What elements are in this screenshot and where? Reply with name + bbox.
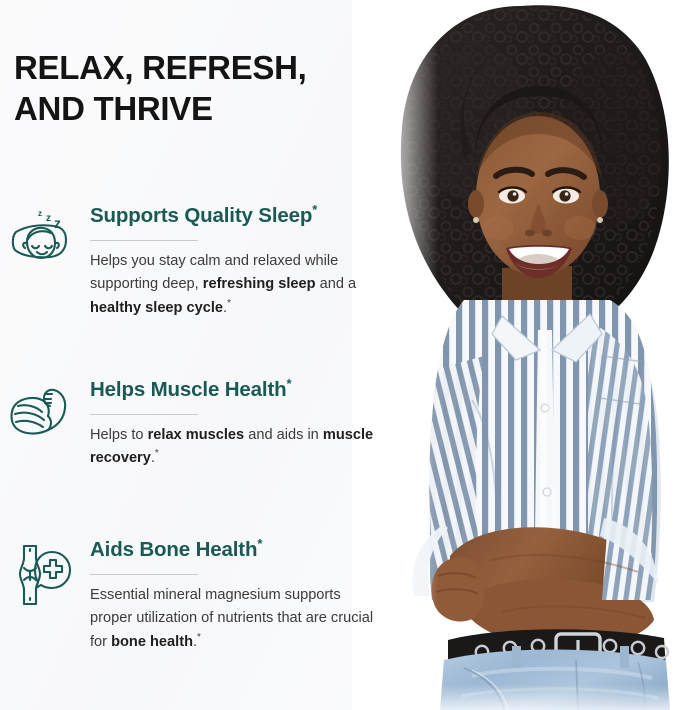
model-illustration [352,0,679,710]
benefit-item-bone: Aids Bone Health* Essential mineral magn… [8,538,380,655]
flexed-bicep-arm-icon [8,382,78,454]
benefit-text-asterisk: * [227,298,231,309]
bone-joint-medical-cross-icon [8,542,78,614]
benefit-title: Supports Quality Sleep* [90,204,380,229]
benefit-item-sleep: z z z Supports Quality Sleep* Helps you … [8,204,380,321]
smiling-woman-arms-crossed-photo [352,0,679,710]
benefit-title: Aids Bone Health* [90,538,380,563]
sleeping-face-on-pillow-icon: z z z [8,208,78,280]
benefit-content: Aids Bone Health* Essential mineral magn… [78,538,380,655]
jeans [440,646,670,710]
benefit-content: Helps Muscle Health* Helps to relax musc… [78,378,380,471]
benefit-title-asterisk: * [257,536,262,551]
page-title: RELAX, REFRESH, AND THRIVE [14,48,374,129]
benefit-text-bold: healthy sleep cycle [90,300,223,316]
benefit-divider [90,414,198,415]
benefit-title-asterisk: * [287,376,292,391]
benefit-title-asterisk: * [312,202,317,217]
benefit-text-run: and a [316,276,357,292]
product-benefits-infographic: RELAX, REFRESH, AND THRIVE [0,0,679,710]
svg-text:z: z [38,209,42,218]
svg-text:z: z [54,215,61,231]
benefit-divider [90,574,198,575]
benefit-divider [90,240,198,241]
benefit-title: Helps Muscle Health* [90,378,380,403]
benefit-text-bold: refreshing sleep [203,276,316,292]
benefit-content: Supports Quality Sleep* Helps you stay c… [78,204,380,321]
benefit-title-text: Aids Bone Health [90,538,257,561]
benefit-text-asterisk: * [197,632,201,643]
benefit-title-text: Helps Muscle Health [90,378,287,401]
benefit-text-run: Helps to [90,427,148,443]
svg-text:z: z [46,213,51,224]
benefit-description: Essential mineral magnesium supports pro… [90,584,380,655]
benefit-text-run: and aids in [244,427,323,443]
benefit-item-muscle: Helps Muscle Health* Helps to relax musc… [8,378,380,471]
benefit-text-bold: bone health [111,634,193,650]
benefit-description: Helps to relax muscles and aids in muscl… [90,424,380,471]
benefit-title-text: Supports Quality Sleep [90,204,312,227]
benefit-text-bold: relax muscles [148,427,245,443]
benefit-text-asterisk: * [155,448,159,459]
benefit-description: Helps you stay calm and relaxed while su… [90,250,380,321]
